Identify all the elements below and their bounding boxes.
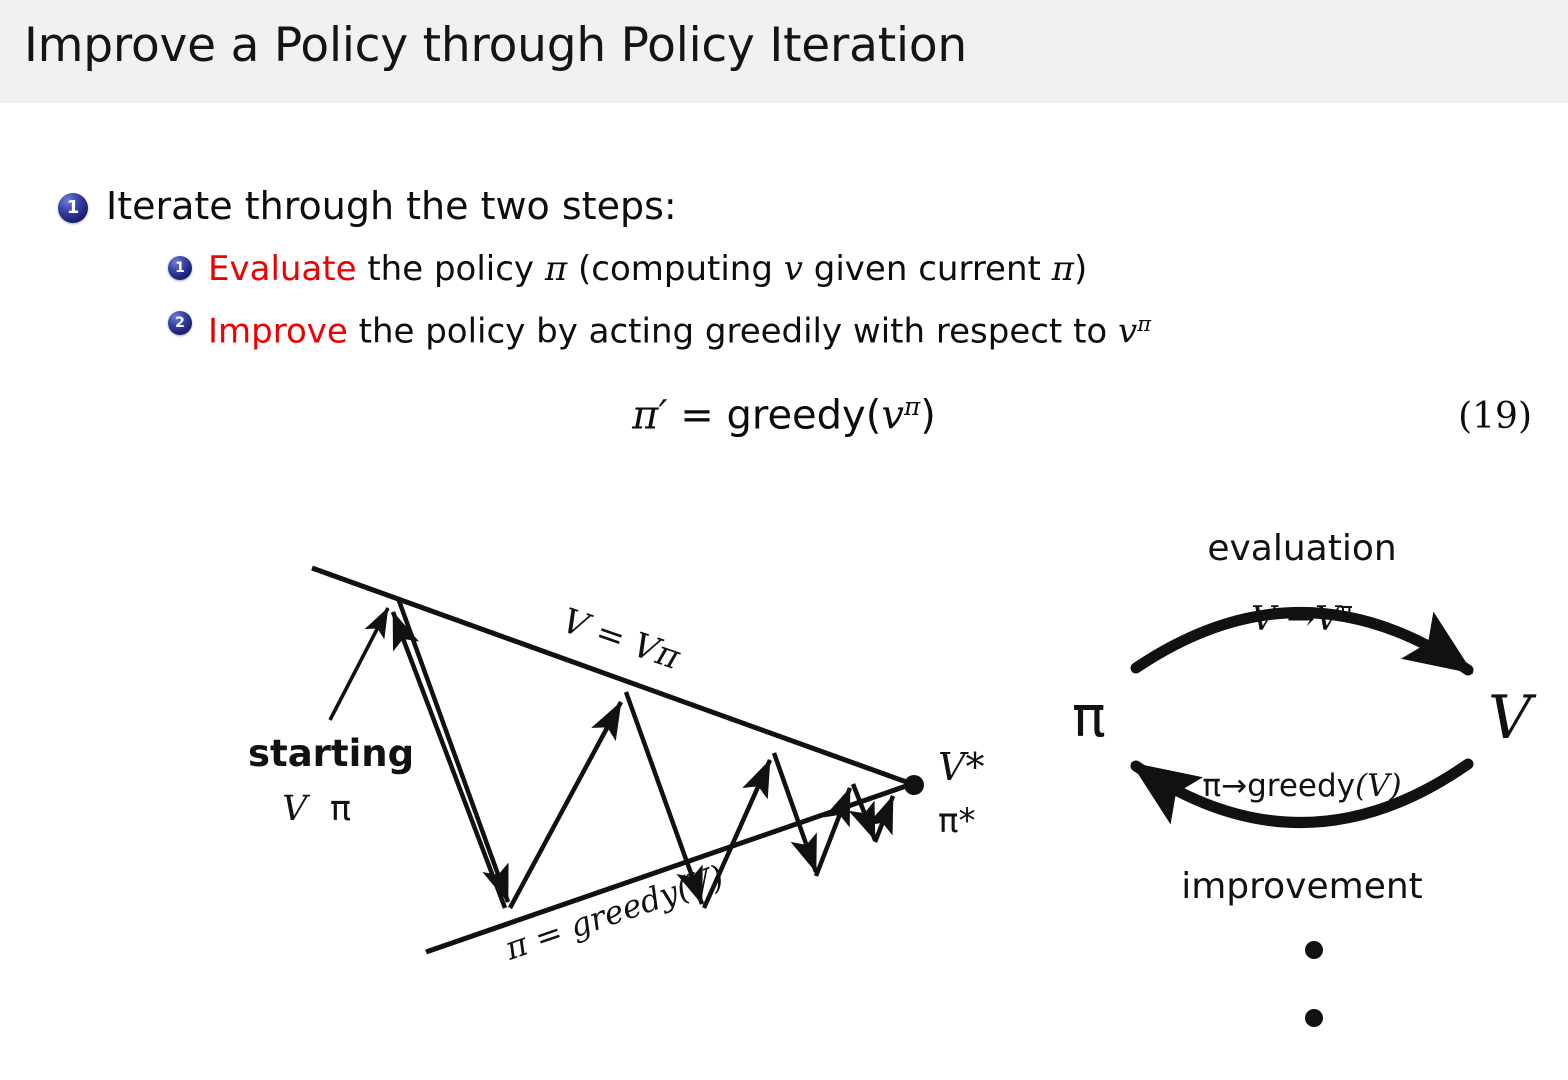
ellipsis-dot-2 xyxy=(1305,1009,1323,1027)
improvement-math-label: π→greedy(V) xyxy=(1202,768,1401,804)
equation-arg-v: v xyxy=(881,393,904,439)
starting-v-label: V xyxy=(282,789,311,829)
optimal-pi-label: π* xyxy=(938,801,975,841)
improvement-caption: improvement xyxy=(1181,866,1423,907)
starting-label: starting xyxy=(248,732,414,775)
sub-bullet-marker-1: 1 xyxy=(168,256,192,280)
equation-body: π′ = greedy(vπ) xyxy=(632,392,936,439)
starting-pointer-arrow xyxy=(330,608,388,720)
pi-symbol-2: π xyxy=(1052,249,1074,289)
text-after-evaluate-b: (computing xyxy=(567,249,784,289)
evaluation-math-exponent: π xyxy=(1340,599,1353,624)
optimal-point-dot xyxy=(904,775,924,795)
figure-gpi-cycle: π V evaluation V →Vπ π→greedy(V) improve… xyxy=(1040,520,1560,1060)
bullet-marker-1: 1 xyxy=(58,193,88,223)
improvement-math-pi: π xyxy=(1202,768,1221,804)
equation-arg-exponent: π xyxy=(904,392,920,421)
figures-area: V = Vπ π = greedy(V) starting V π V* π* … xyxy=(0,520,1568,1060)
v-symbol: v xyxy=(1118,312,1137,352)
equation-prime: ′ xyxy=(658,393,667,439)
list-item-iterate: 1 Iterate through the two steps: xyxy=(58,183,677,229)
starting-pi-label: π xyxy=(330,789,351,829)
node-v-label: V xyxy=(1488,683,1537,753)
node-pi-label: π xyxy=(1072,685,1106,750)
keyword-evaluate: Evaluate xyxy=(208,249,357,289)
pi-exponent: π xyxy=(1137,311,1151,336)
slide-header-bar: Improve a Policy through Policy Iteratio… xyxy=(0,0,1568,103)
improvement-math-arrow: → xyxy=(1221,768,1247,804)
sub-bullet-marker-2: 2 xyxy=(168,311,192,335)
list-item-label: Evaluate the policy π (computing v given… xyxy=(208,248,1087,290)
list-item-evaluate: 1 Evaluate the policy π (computing v giv… xyxy=(168,248,1087,290)
evaluation-math-label: V →Vπ xyxy=(1251,599,1353,639)
equation-number: (19) xyxy=(1458,396,1532,437)
equation-equals: = xyxy=(668,393,727,439)
evaluation-math-main: V →V xyxy=(1251,599,1343,639)
text-after-improve: the policy by acting greedily with respe… xyxy=(348,312,1118,352)
evaluation-caption: evaluation xyxy=(1207,528,1396,569)
v-symbol: v xyxy=(784,249,803,289)
list-item-label: Iterate through the two steps: xyxy=(106,183,677,229)
optimal-v-label: V* xyxy=(938,745,984,789)
list-item-label: Improve the policy by acting greedily wi… xyxy=(208,303,1151,353)
equation-policy-greedy: π′ = greedy(vπ) xyxy=(0,392,1568,439)
equation-lhs-pi: π xyxy=(632,393,658,439)
keyword-improve: Improve xyxy=(208,312,348,352)
text-after-evaluate-d: ) xyxy=(1074,249,1087,289)
figure-policy-iteration-convergence: V = Vπ π = greedy(V) starting V π V* π* xyxy=(230,520,1010,1060)
page-title: Improve a Policy through Policy Iteratio… xyxy=(24,18,967,73)
ellipsis-dot-1 xyxy=(1305,941,1323,959)
improvement-math-fn: greedy xyxy=(1247,768,1355,804)
equation-close-paren: ) xyxy=(920,393,936,439)
upper-line-label: V = Vπ xyxy=(557,601,686,679)
improvement-math-arg: (V) xyxy=(1355,768,1402,804)
pi-symbol: π xyxy=(545,249,567,289)
text-after-evaluate-a: the policy xyxy=(357,249,545,289)
list-item-improve: 2 Improve the policy by acting greedily … xyxy=(168,303,1151,353)
text-after-evaluate-c: given current xyxy=(803,249,1052,289)
equation-function: greedy( xyxy=(726,393,881,439)
